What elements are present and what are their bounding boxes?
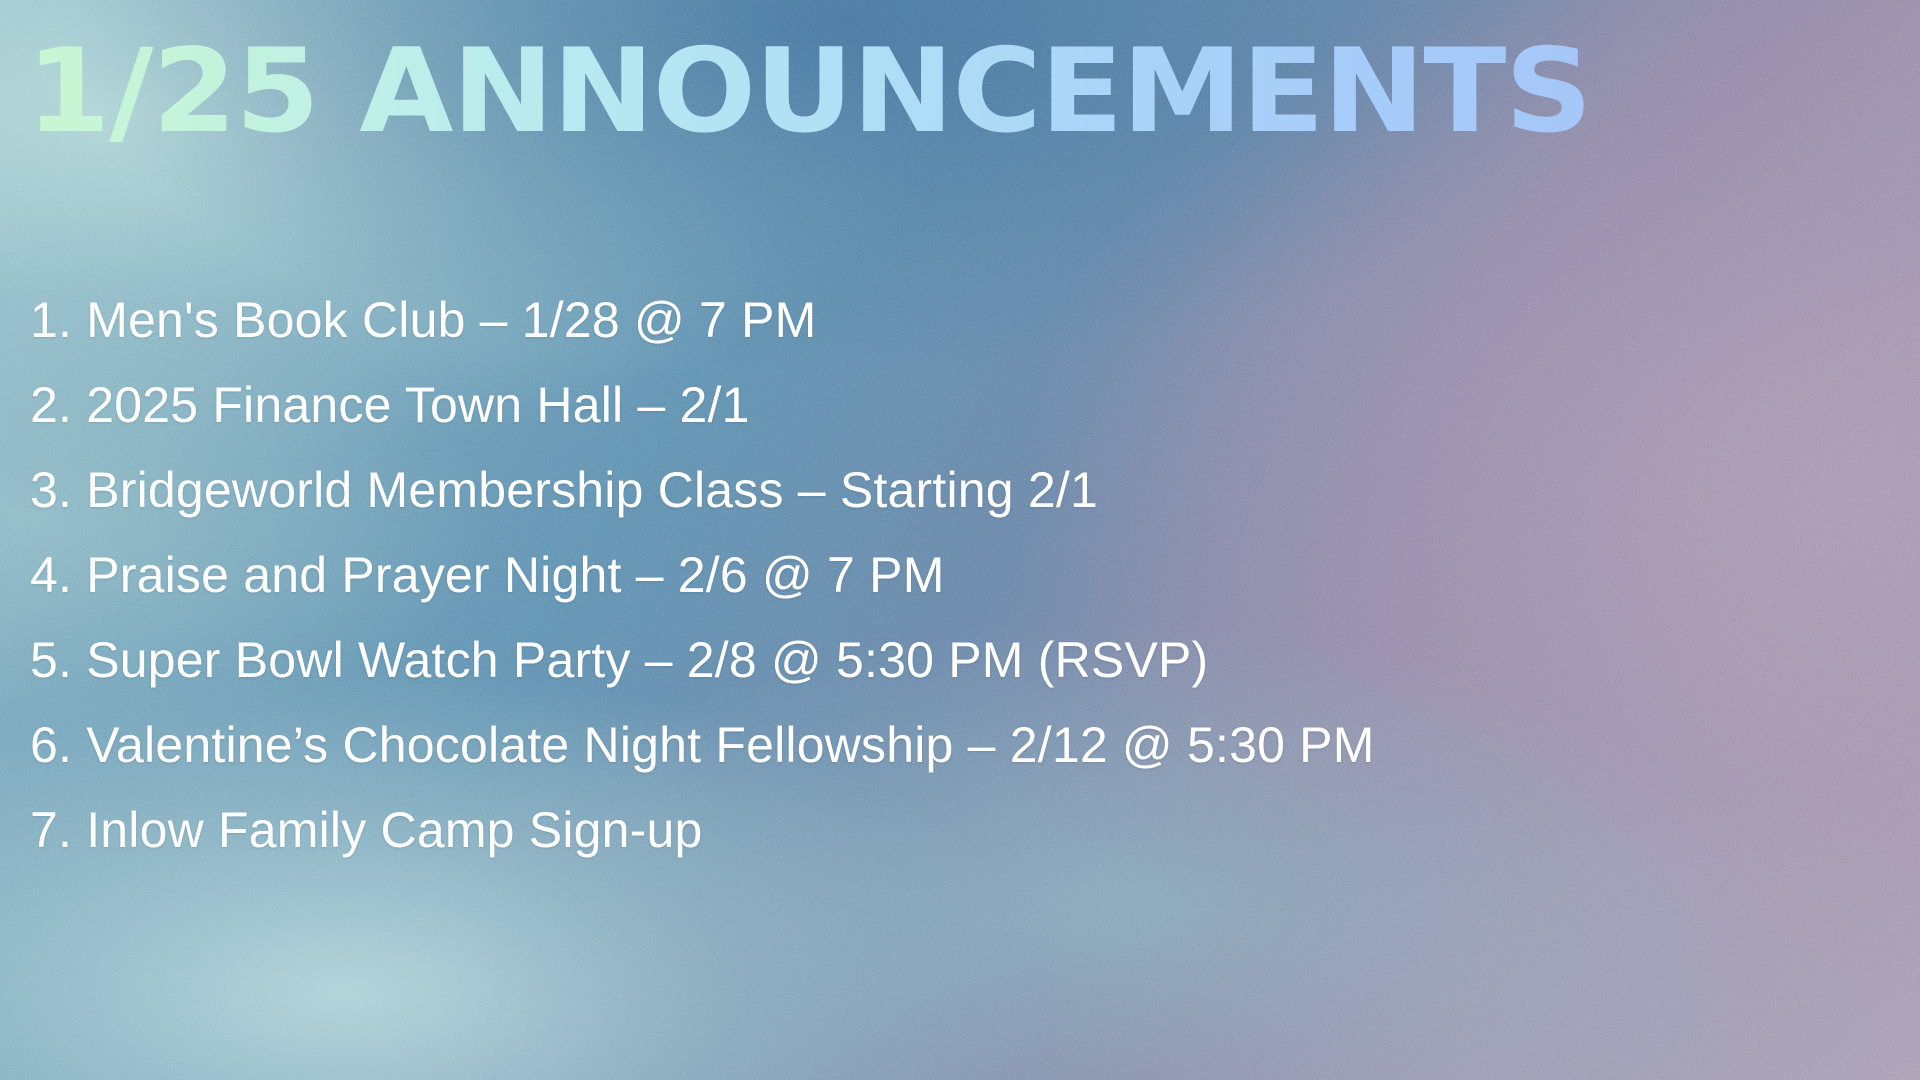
list-item: 3. Bridgeworld Membership Class – Starti… (30, 448, 1890, 533)
list-item: 4. Praise and Prayer Night – 2/6 @ 7 PM (30, 533, 1890, 618)
page-title: 1/25 ANNOUNCEMENTS (26, 34, 1920, 150)
list-item: 1. Men's Book Club – 1/28 @ 7 PM (30, 278, 1890, 363)
list-item: 6. Valentine’s Chocolate Night Fellowshi… (30, 703, 1890, 788)
title-block: 1/25 ANNOUNCEMENTS (26, 34, 1906, 150)
announcement-slide: 1/25 ANNOUNCEMENTS 1. Men's Book Club – … (0, 0, 1920, 1080)
list-item: 5. Super Bowl Watch Party – 2/8 @ 5:30 P… (30, 618, 1890, 703)
list-item: 2. 2025 Finance Town Hall – 2/1 (30, 363, 1890, 448)
announcement-list: 1. Men's Book Club – 1/28 @ 7 PM 2. 2025… (30, 278, 1890, 873)
list-item: 7. Inlow Family Camp Sign-up (30, 788, 1890, 873)
